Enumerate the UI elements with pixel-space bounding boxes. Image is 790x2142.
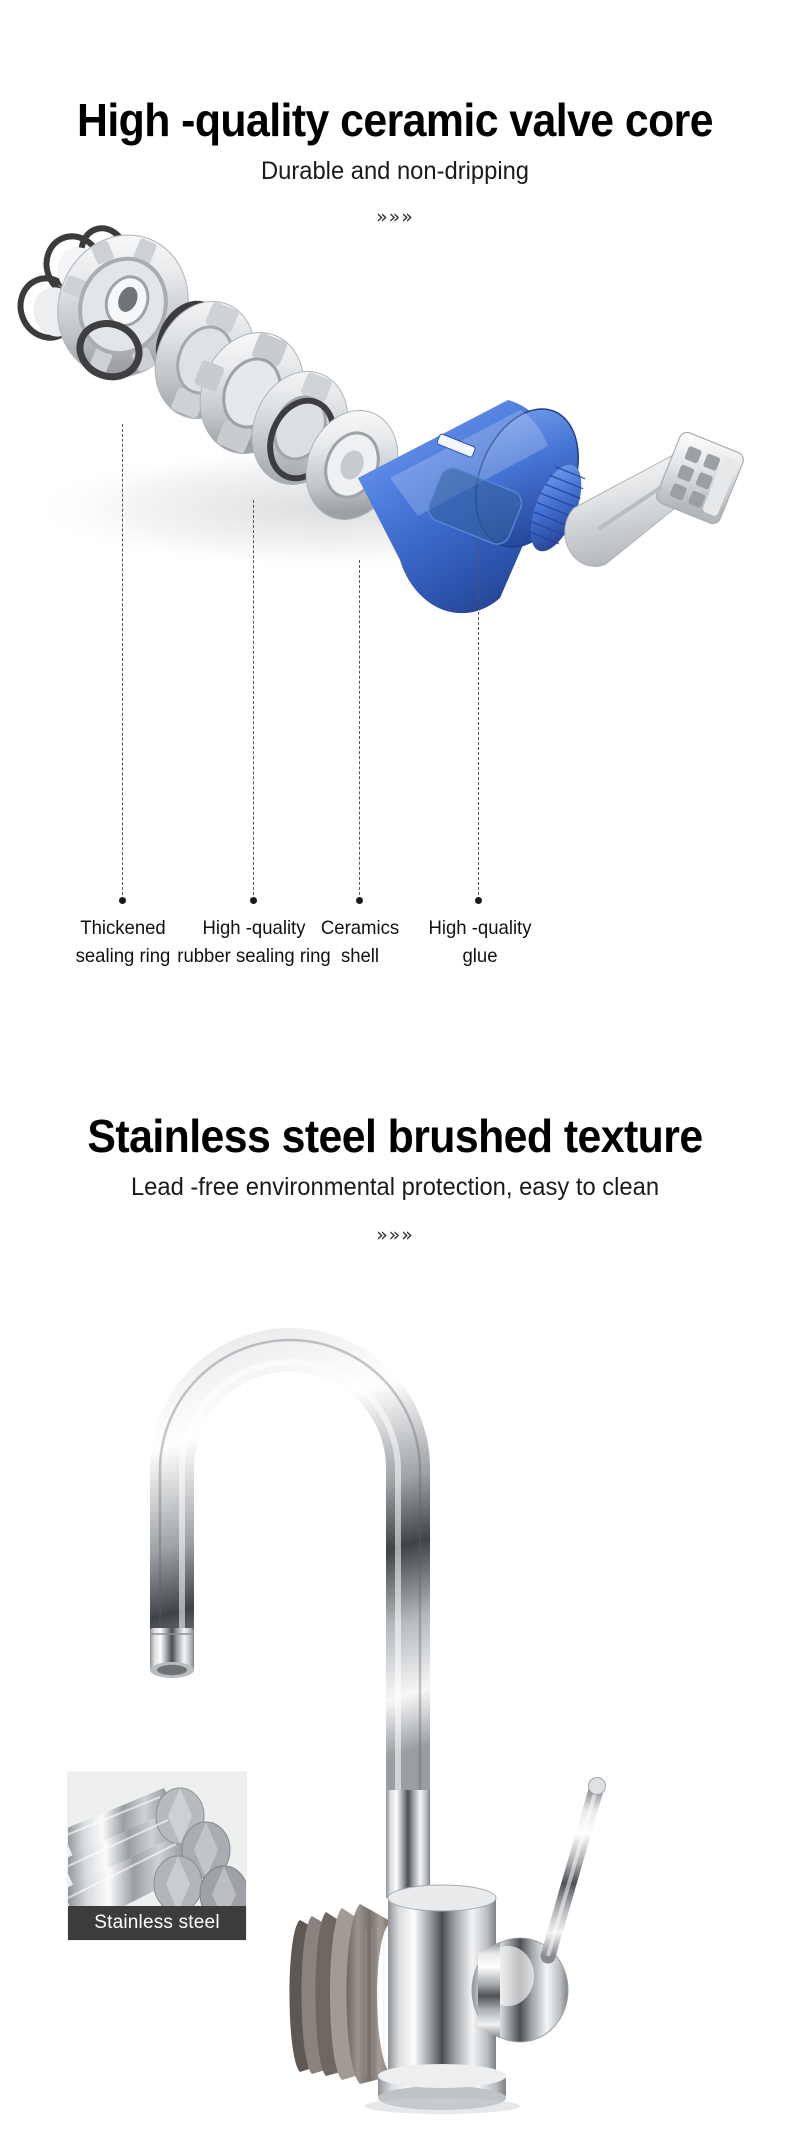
callout-1-line-1: Thickened bbox=[52, 915, 195, 943]
leader-dot-1 bbox=[119, 897, 126, 904]
exploded-valve-core-image bbox=[0, 178, 790, 648]
faucet-spout-arc bbox=[160, 1340, 420, 1810]
leader-dot-4 bbox=[475, 897, 482, 904]
section-2-header: Stainless steel brushed texture Lead -fr… bbox=[0, 1112, 790, 1245]
callout-4-line-2: glue bbox=[414, 943, 547, 971]
valve-control-stem bbox=[565, 430, 746, 566]
section-ceramic-valve-core: High -quality ceramic valve core Durable… bbox=[0, 0, 790, 1030]
callout-3-line-1: Ceramics bbox=[303, 915, 417, 943]
callout-label-ceramics-shell: Ceramics shell bbox=[303, 915, 417, 970]
brushed-steel-cutaway-layers bbox=[290, 1904, 393, 2084]
section-stainless-steel: Stainless steel brushed texture Lead -fr… bbox=[0, 1030, 790, 2142]
callout-4-line-1: High -quality bbox=[414, 915, 547, 943]
section-2-subtitle: Lead -free environmental protection, eas… bbox=[20, 1174, 771, 1202]
section-2-title: Stainless steel brushed texture bbox=[28, 1112, 763, 1160]
leader-dot-3 bbox=[356, 897, 363, 904]
callout-label-high-quality-glue: High -quality glue bbox=[414, 915, 547, 970]
inset-caption-label: Stainless steel bbox=[68, 1906, 246, 1940]
callout-2-line-2: rubber sealing ring bbox=[168, 943, 341, 971]
callout-label-thickened-sealing-ring: Thickened sealing ring bbox=[52, 915, 195, 970]
faucet-aerator bbox=[150, 1628, 194, 1678]
stainless-steel-faucet-image bbox=[0, 1230, 790, 2142]
faucet-column bbox=[386, 1790, 430, 1898]
section-1-title: High -quality ceramic valve core bbox=[28, 96, 763, 144]
stainless-steel-inset-card: Stainless steel bbox=[68, 1772, 246, 1940]
callout-1-line-2: sealing ring bbox=[52, 943, 195, 971]
ceramic-shell-blue-body bbox=[358, 394, 598, 614]
product-detail-page: High -quality ceramic valve core Durable… bbox=[0, 0, 790, 2142]
callout-3-line-2: shell bbox=[303, 943, 417, 971]
leader-dot-2 bbox=[250, 897, 257, 904]
callout-2-line-1: High -quality bbox=[168, 915, 341, 943]
callout-label-rubber-sealing-ring: High -quality rubber sealing ring bbox=[168, 915, 341, 970]
